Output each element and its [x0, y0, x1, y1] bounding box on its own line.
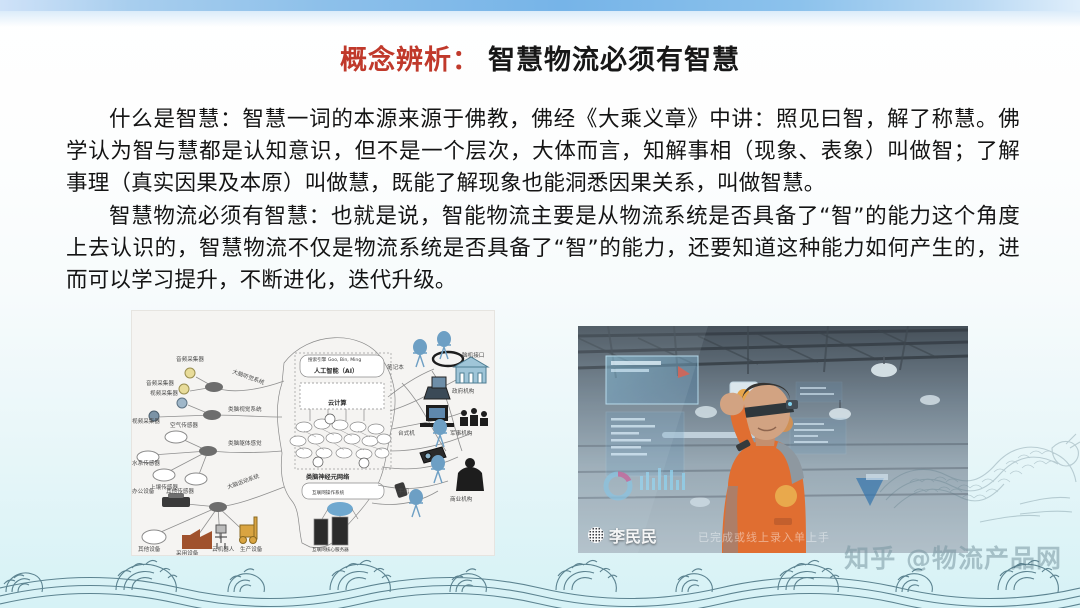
- svg-text:云计算: 云计算: [328, 399, 347, 407]
- top-accent-strip: [0, 0, 1080, 11]
- svg-text:其他传感器: 其他传感器: [166, 487, 194, 495]
- svg-text:台式机: 台式机: [398, 429, 415, 437]
- title-main: 智慧物流必须有智慧: [488, 45, 740, 76]
- wave-ornament-band: [0, 548, 1080, 608]
- photo-watermark-text: 李民民: [609, 523, 657, 547]
- svg-text:互联网操作系统: 互联网操作系统: [312, 489, 345, 496]
- svg-text:视频采集器: 视频采集器: [150, 389, 178, 397]
- svg-text:手机: 手机: [398, 487, 410, 495]
- svg-text:军事机构: 军事机构: [450, 429, 473, 437]
- svg-text:音频采集器: 音频采集器: [176, 355, 204, 363]
- top-accent-fade: [0, 11, 1080, 27]
- svg-text:商业机构: 商业机构: [450, 495, 473, 503]
- body-text-block: 什么是智慧：智慧一词的本源来源于佛教，佛经《大乘义章》中讲：照见曰智，解了称慧。…: [66, 104, 1020, 297]
- page-title: 概念辨析：智慧物流必须有智慧: [0, 38, 1080, 77]
- svg-text:视频采集器: 视频采集器: [132, 417, 160, 425]
- svg-text:政府机构: 政府机构: [452, 387, 475, 395]
- svg-text:搜索引擎 Goo, Bin, Ming: 搜索引擎 Goo, Bin, Ming: [308, 356, 361, 363]
- svg-text:水系传感器: 水系传感器: [132, 459, 160, 467]
- paragraph-2: 智慧物流必须有智慧：也就是说，智能物流主要是从物流系统是否具备了“智”的能力这个…: [66, 201, 1020, 297]
- svg-text:笔记本: 笔记本: [387, 363, 404, 371]
- svg-text:脑机接口: 脑机接口: [462, 351, 484, 359]
- svg-text:音频采集器: 音频采集器: [146, 379, 174, 387]
- internet-brain-diagram-image: 音频采集器 音频采集器 视频采集器 视频采集器 空气传感器 水系传感器 上壤传感…: [131, 310, 495, 556]
- svg-text:类脑躯体感觉: 类脑躯体感觉: [228, 439, 262, 447]
- watermark-ball-icon: [588, 527, 604, 543]
- title-prefix: 概念辨析：: [340, 45, 480, 76]
- svg-text:类脑视觉系统: 类脑视觉系统: [228, 405, 262, 413]
- photo-caption: 已完成或线上录入单上手: [698, 529, 830, 545]
- svg-text:人工智能（AI）: 人工智能（AI）: [314, 367, 358, 375]
- photo-watermark: 李民民: [588, 523, 657, 547]
- svg-text:办公设备: 办公设备: [132, 487, 155, 495]
- svg-text:类脑神经元网络: 类脑神经元网络: [306, 473, 350, 481]
- paragraph-1: 什么是智慧：智慧一词的本源来源于佛教，佛经《大乘义章》中讲：照见曰智，解了称慧。…: [66, 104, 1020, 200]
- slide-canvas: 概念辨析：智慧物流必须有智慧 什么是智慧：智慧一词的本源来源于佛教，佛经《大乘义…: [0, 0, 1080, 608]
- svg-text:空气传感器: 空气传感器: [170, 421, 198, 429]
